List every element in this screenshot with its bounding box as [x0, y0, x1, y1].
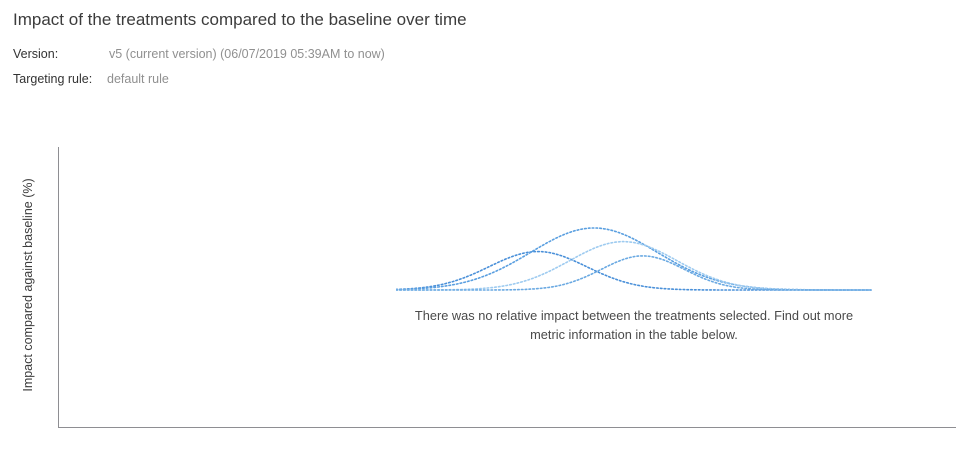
impact-chart: Impact compared against baseline (%) The… — [0, 0, 956, 457]
chart-y-axis-label: Impact compared against baseline (%) — [21, 165, 35, 405]
overlapping-bell-curves-icon — [396, 212, 872, 298]
chart-y-axis-line — [58, 147, 59, 428]
chart-x-axis-line — [58, 427, 956, 428]
chart-empty-message: There was no relative impact between the… — [396, 306, 872, 344]
chart-empty-state: There was no relative impact between the… — [396, 212, 872, 344]
